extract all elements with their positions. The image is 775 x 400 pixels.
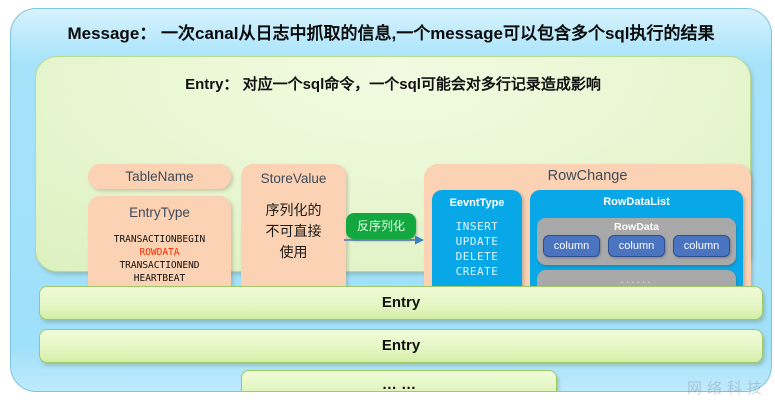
event-type-value: UPDATE [432, 234, 522, 249]
entry-bar[interactable]: Entry [39, 286, 763, 320]
entry-type-value: TRANSACTIONBEGIN [88, 233, 231, 246]
row-change-label: RowChange [424, 168, 751, 184]
column-chip[interactable]: column [543, 235, 600, 257]
table-name-label: TableName [88, 164, 231, 189]
entry-main-title: Entry： 对应一个sql命令，一个sql可能会对多行记录造成影响 [36, 73, 750, 94]
entry-type-value-highlighted: ROWDATA [88, 246, 231, 259]
entry-bar-more[interactable]: … … [241, 370, 557, 392]
store-value-line: 序列化的 [241, 200, 346, 221]
event-type-value-list: INSERT UPDATE DELETE CREATE … … [432, 219, 522, 294]
table-name-box: TableName [88, 164, 231, 189]
store-value-line: 使用 [241, 242, 346, 263]
row-data-box: RowData column column column [537, 218, 736, 265]
event-type-value: INSERT [432, 219, 522, 234]
entry-type-value: HEARTBEAT [88, 272, 231, 285]
row-data-columns: column column column [537, 233, 736, 257]
event-type-value: CREATE [432, 264, 522, 279]
column-chip[interactable]: column [608, 235, 665, 257]
row-data-label: RowData [537, 221, 736, 233]
entry-main-panel: Entry： 对应一个sql命令，一个sql可能会对多行记录造成影响 Table… [35, 56, 751, 272]
entry-type-label: EntryType [88, 205, 231, 220]
deserialize-arrow-icon [343, 233, 425, 247]
store-value-description: 序列化的 不可直接 使用 [241, 200, 346, 263]
store-value-line: 不可直接 [241, 221, 346, 242]
event-type-label: EevntType [432, 197, 522, 209]
entry-type-value: TRANSACTIONEND [88, 259, 231, 272]
event-type-box: EevntType INSERT UPDATE DELETE CREATE … … [432, 190, 522, 300]
column-chip[interactable]: column [673, 235, 730, 257]
message-title: Message： 一次canal从日志中抓取的信息,一个message可以包含多… [11, 19, 771, 44]
store-value-label: StoreValue [241, 171, 346, 186]
row-data-list-label: RowDataList [530, 196, 743, 208]
entry-bar[interactable]: Entry [39, 329, 763, 363]
event-type-value: DELETE [432, 249, 522, 264]
message-panel: Message： 一次canal从日志中抓取的信息,一个message可以包含多… [10, 8, 772, 392]
